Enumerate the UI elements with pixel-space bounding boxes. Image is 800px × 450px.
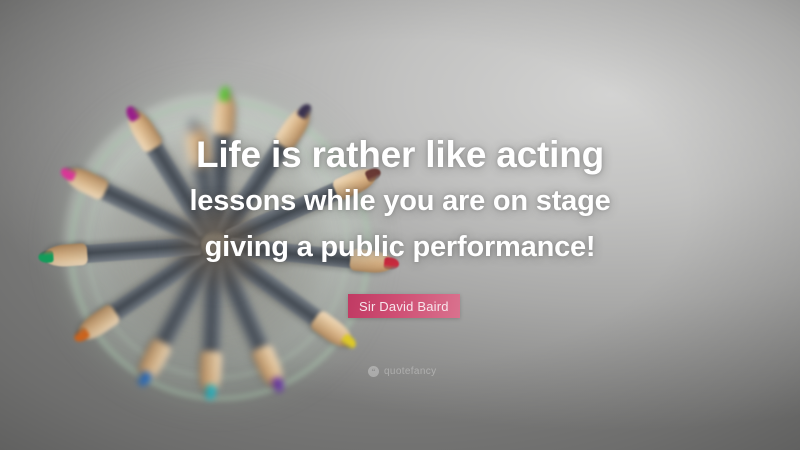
watermark-label: quotefancy [384, 366, 436, 377]
quotefancy-watermark[interactable]: “ quotefancy [368, 366, 436, 377]
quote-image-canvas: Life is rather like acting lessons while… [0, 0, 800, 450]
author-badge[interactable]: Sir David Baird [348, 294, 460, 318]
quote-mark-icon: “ [368, 366, 379, 377]
author-name: Sir David Baird [359, 299, 449, 314]
background-vignette [0, 0, 800, 450]
background-photo [0, 0, 800, 450]
